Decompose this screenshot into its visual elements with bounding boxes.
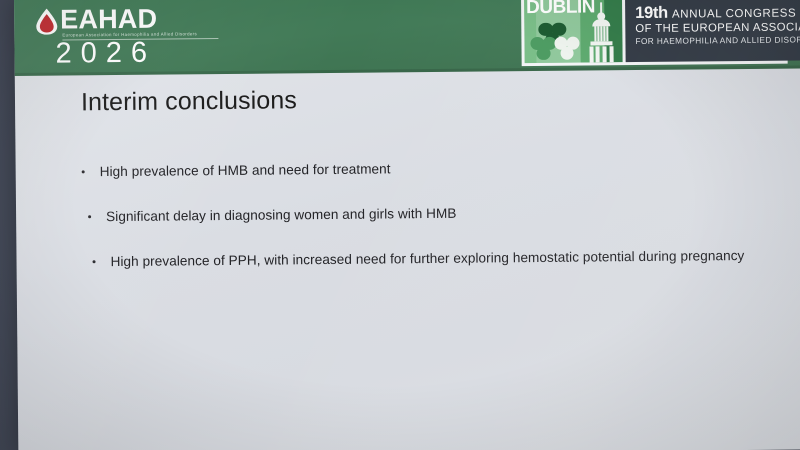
bullet-text: High prevalence of HMB and need for trea… [100,161,391,179]
congress-title-panel: 19th ANNUAL CONGRESS OF THE EUROPEAN ASS… [625,0,800,62]
congress-logo: DUBLIN [521,0,788,66]
bullet-marker-icon [93,260,96,263]
shamrock-icon-mid [530,35,556,60]
eahad-year: 2026 [55,37,156,71]
slide-header-bar: EAHAD European Association for Haemophil… [14,0,800,76]
slide-title: Interim conclusions [81,86,297,117]
congress-line-3: FOR HAEMOPHILIA AND ALLIED DISORDERS [635,34,800,47]
shamrock-icon-light [554,35,579,60]
eahad-logo: EAHAD European Association for Haemophil… [34,3,295,67]
congress-line-1: 19th ANNUAL CONGRESS [635,4,800,23]
bullet-item: High prevalence of PPH, with increased n… [82,246,772,273]
blood-drop-icon [34,8,59,36]
bullet-list: High prevalence of HMB and need for trea… [72,156,773,298]
eahad-wordmark: EAHAD [60,5,157,34]
bullet-text: High prevalence of PPH, with increased n… [110,248,744,269]
dublin-wordmark: DUBLIN [526,0,595,17]
bullet-item: High prevalence of HMB and need for trea… [72,156,772,183]
presentation-slide: EAHAD European Association for Haemophil… [14,0,800,450]
dublin-graphic: DUBLIN [524,0,623,63]
bullet-marker-icon [88,215,91,218]
congress-edition-rest: ANNUAL CONGRESS [672,7,796,20]
bullet-text: Significant delay in diagnosing women an… [106,206,457,224]
bullet-item: Significant delay in diagnosing women an… [78,201,772,228]
photo-of-projected-slide: EAHAD European Association for Haemophil… [0,0,800,450]
bullet-marker-icon [82,170,85,173]
congress-edition-number: 19th [635,4,668,22]
